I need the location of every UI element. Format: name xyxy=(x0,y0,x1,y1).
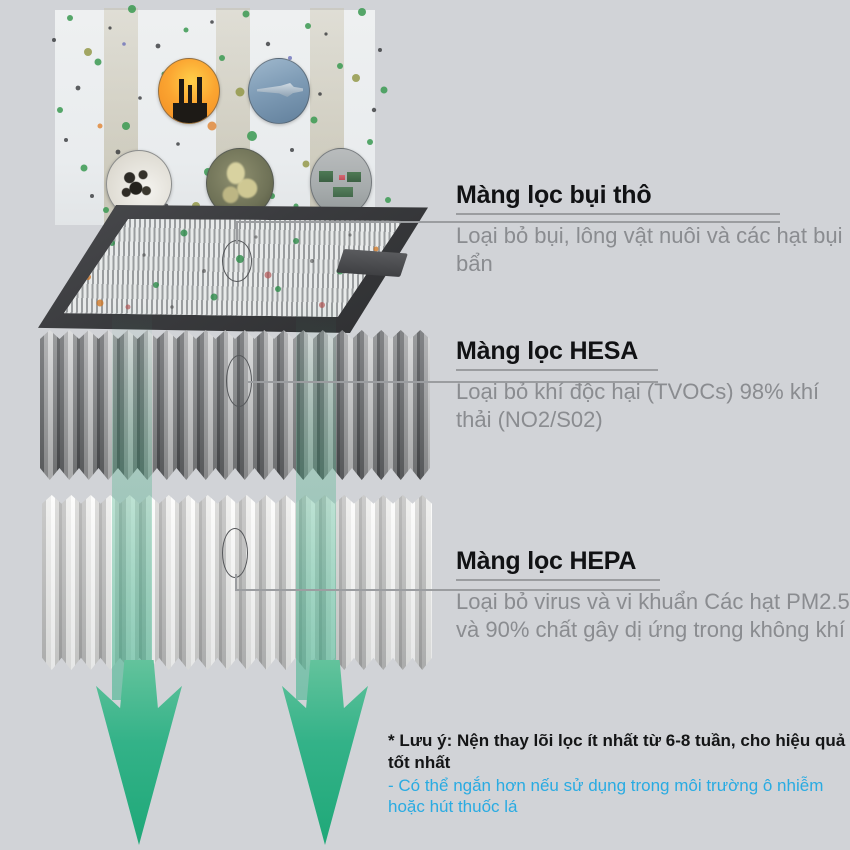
clean-air-arrow-left xyxy=(96,660,182,845)
hesa-filter-title: Màng lọc HESA xyxy=(456,338,850,364)
hesa-filter-rule xyxy=(456,369,658,371)
clean-air-arrow-right xyxy=(282,660,368,845)
replacement-note-secondary: - Có thể ngắn hơn nếu sử dụng trong môi … xyxy=(388,775,850,819)
hepa-filter-title: Màng lọc HEPA xyxy=(456,548,850,574)
replacement-note: * Lưu ý: Nện thay lõi lọc ít nhất từ 6-8… xyxy=(388,730,850,818)
coarse-filter-title: Màng lọc bụi thô xyxy=(456,182,850,208)
airflow-shaft-left xyxy=(112,300,152,700)
callout-marker-coarse xyxy=(222,240,252,282)
hepa-filter-rule xyxy=(456,579,660,581)
callout-hesa-filter: Màng lọc HESA Loại bỏ khí độc hại (TVOCs… xyxy=(456,338,850,435)
airflow-shaft-right xyxy=(296,300,336,700)
arrow-shape xyxy=(282,660,368,845)
coarse-filter-rule xyxy=(456,213,780,215)
coarse-filter-description: Loại bỏ bụi, lông vật nuôi và các hạt bụ… xyxy=(456,222,850,279)
callout-hepa-filter: Màng lọc HEPA Loại bỏ virus và vi khuẩn … xyxy=(456,548,850,645)
air-purifier-illustration xyxy=(0,0,440,850)
leader-line-coarse-vertical xyxy=(236,222,238,244)
callout-coarse-filter: Màng lọc bụi thô Loại bỏ bụi, lông vật n… xyxy=(456,182,850,279)
replacement-note-primary: * Lưu ý: Nện thay lõi lọc ít nhất từ 6-8… xyxy=(388,730,850,774)
airplane-exhaust-icon xyxy=(248,58,310,124)
hepa-shading xyxy=(42,495,432,670)
hesa-filter-description: Loại bỏ khí độc hại (TVOCs) 98% khí thải… xyxy=(456,378,850,435)
factory-smokestack-icon xyxy=(158,58,220,124)
filter-pull-tab xyxy=(336,249,408,277)
arrow-shape xyxy=(96,660,182,845)
callout-marker-hepa xyxy=(222,528,248,578)
hepa-filter-layer xyxy=(42,495,432,670)
leader-line-hepa-vertical xyxy=(235,574,237,590)
filter-diagram-stage: Màng lọc bụi thô Loại bỏ bụi, lông vật n… xyxy=(0,0,850,850)
hepa-filter-description: Loại bỏ virus và vi khuẩn Các hạt PM2.5 … xyxy=(456,588,850,645)
